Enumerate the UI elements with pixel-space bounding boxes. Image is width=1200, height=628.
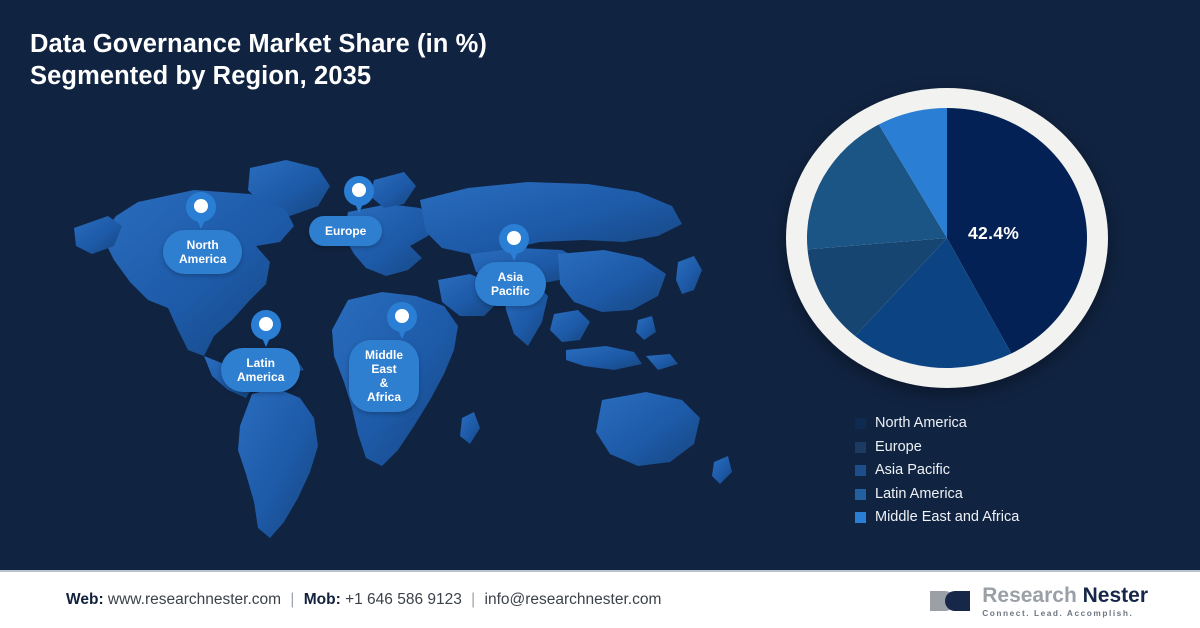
footer-contact-info: Web: www.researchnester.com | Mob: +1 64… (66, 591, 661, 609)
logo-name: Research Nester (982, 585, 1148, 606)
footer-bar: Web: www.researchnester.com | Mob: +1 64… (0, 570, 1200, 628)
footer-email[interactable]: info@researchnester.com (485, 591, 662, 608)
location-pin-icon (186, 192, 216, 232)
research-nester-logo-icon (927, 586, 973, 616)
brand-logo[interactable]: Research Nester Connect. Lead. Accomplis… (927, 581, 1148, 621)
legend-swatch-icon (855, 512, 866, 523)
footer-separator: | (466, 591, 480, 608)
map-label-middle-east-africa: Middle East & Africa (349, 340, 419, 412)
footer-separator: | (285, 591, 299, 608)
legend-item-asia-pacific[interactable]: Asia Pacific (855, 459, 1145, 483)
logo-word-nester: Nester (1083, 584, 1148, 607)
pie-chart-svg (807, 108, 1087, 368)
world-map: North America Europe Asia Pacific Latin … (18, 150, 738, 550)
infographic-root: Data Governance Market Share (in %) Segm… (0, 0, 1200, 628)
map-label-europe: Europe (309, 216, 382, 246)
legend-swatch-icon (855, 465, 866, 476)
location-pin-icon (344, 176, 374, 216)
map-label-latin-america: Latin America (221, 348, 300, 392)
legend-label: Europe (875, 439, 922, 456)
legend-swatch-icon (855, 442, 866, 453)
location-pin-icon (387, 302, 417, 342)
page-title: Data Governance Market Share (in %) Segm… (30, 28, 650, 92)
logo-tagline: Connect. Lead. Accomplish. (982, 609, 1148, 617)
title-line-2: Segmented by Region, 2035 (30, 60, 650, 92)
footer-mob-label: Mob: (304, 591, 341, 608)
legend-label: Latin America (875, 486, 963, 503)
logo-word-research: Research (982, 584, 1077, 607)
legend-item-latin-america[interactable]: Latin America (855, 483, 1145, 507)
legend-label: Middle East and Africa (875, 509, 1019, 526)
pie-chart: 42.4% (786, 88, 1108, 388)
logo-text: Research Nester Connect. Lead. Accomplis… (982, 585, 1148, 617)
title-line-1: Data Governance Market Share (in %) (30, 28, 650, 60)
legend-item-middle-east-africa[interactable]: Middle East and Africa (855, 506, 1145, 530)
legend-swatch-icon (855, 489, 866, 500)
legend-label: Asia Pacific (875, 462, 950, 479)
chart-legend: North America Europe Asia Pacific Latin … (855, 412, 1145, 530)
location-pin-icon (499, 224, 529, 264)
pie-slices (807, 108, 1087, 368)
footer-web-value[interactable]: www.researchnester.com (108, 591, 281, 608)
footer-mob-value[interactable]: +1 646 586 9123 (345, 591, 462, 608)
map-label-asia-pacific: Asia Pacific (475, 262, 546, 306)
location-pin-icon (251, 310, 281, 350)
legend-item-north-america[interactable]: North America (855, 412, 1145, 436)
pie-slice-label-north-america: 42.4% (968, 223, 1019, 244)
footer-web-label: Web: (66, 591, 104, 608)
legend-label: North America (875, 415, 967, 432)
map-label-north-america: North America (163, 230, 242, 274)
legend-item-europe[interactable]: Europe (855, 436, 1145, 460)
legend-swatch-icon (855, 418, 866, 429)
